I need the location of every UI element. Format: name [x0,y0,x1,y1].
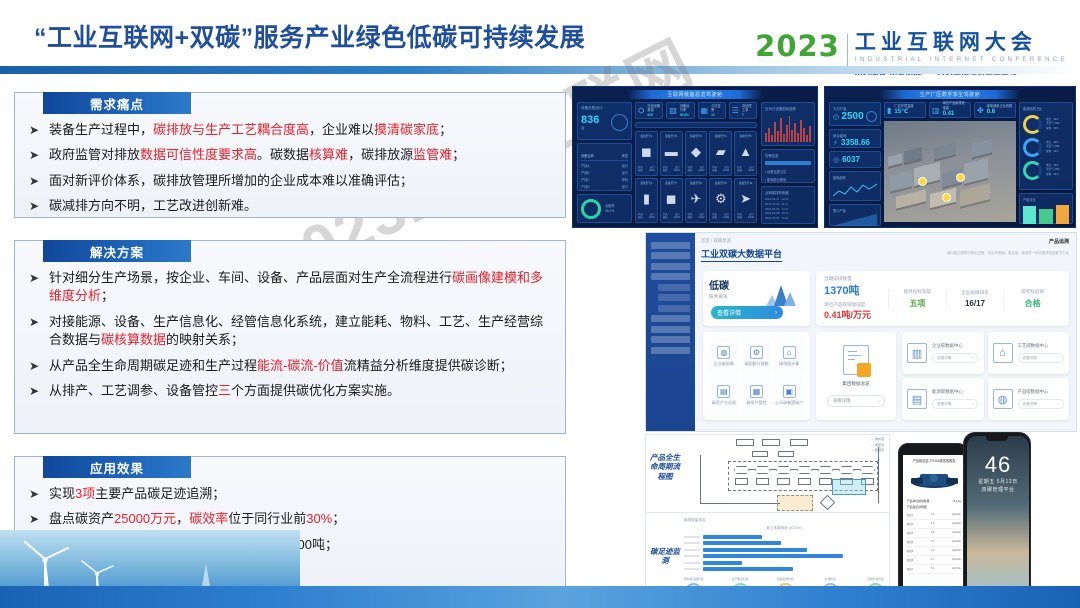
product-card[interactable]: 装备型号1◼状态运行能耗12kW [635,131,658,176]
phone-table-row: 阶段54.0kgCO2e [907,547,961,556]
plant-building [964,158,988,184]
screenshot-platform: 首页 / 双碳总览 工业双碳大数据平台 产品追溯 面向碳达峰碳中和全过程、全生命… [645,232,1077,432]
flow-connector [854,469,860,470]
platform-tile[interactable]: ▤碳资产与交易 [709,378,739,415]
flow-icon: ▦ [750,385,763,398]
platform-tile-label: 碳排产管控 [746,400,766,406]
phone-mockup-lock: 46 星期五 5月12日 双碳管理平台 [963,432,1031,604]
flow-node [819,478,832,485]
platform-tile-label: 碳排放计算 [779,361,799,367]
product-image-icon: ⚙ [715,185,727,213]
phone-table-row: 阶段21.9kgCO2e [907,520,961,529]
cell: 阶段3 [907,531,913,535]
cell: 3.3 [931,540,934,544]
platform-tile-label: 企业碳画像 [714,361,734,367]
platform-tile-label: 公众碳普惠账户 [775,400,803,406]
bullet-text: 盘点碳资产25000万元，碳效率位于同行业前30%； [49,510,551,528]
footprint-bar-row [684,554,884,558]
platform-brand: 工业双碳大数据平台 [701,247,782,262]
platform-header: 首页 / 双碳总览 工业双碳大数据平台 产品追溯 面向碳达峰碳中和全过程、全生命… [701,238,1069,262]
bar [703,548,807,552]
kpi-unit: 台 [581,126,599,131]
bar-axis-label [684,568,700,570]
screenshot-dashboard-products: 互联网装备总览驾驶舱 设备总数统计 836 台 设备名称状态 产线A运行 [572,86,818,228]
bar [780,118,782,142]
bar [794,123,796,142]
plant-building [904,147,922,163]
platform-tile-label: 碳配额与限额 [744,361,768,367]
dashboard-plant-title: 生产厂区数字孪生驾驶舱 [880,90,1020,99]
bullet-item: ➤实现3项主要产品碳足迹追溯； [29,485,551,503]
kpi-label: 厂区环境温度 [894,104,913,108]
mini-col: 状态 [622,153,628,158]
bar [777,131,779,142]
flow-connector [833,469,839,470]
co2-icon: ◎ [833,156,839,164]
bullet-text: 面对新评价体系，碳排放管理所增加的企业成本难以准确评估； [49,172,551,190]
platform-tile[interactable]: ▦碳排产管控 [742,378,772,415]
score-detail-button[interactable]: 查看详情› [711,306,783,319]
dashboard-products-title: 互联网装备总览驾驶舱 [627,90,764,99]
footprint-bar-row [684,541,884,545]
donut-legend: 电力 46%天然气 28%绿电 26% [1046,164,1060,177]
phone-table-row: 阶段32.6kgCO2e [907,529,961,538]
panel-title: 近期碳排放明细 [765,190,811,195]
panel-title: 告警信息 [765,153,811,158]
flow-process-node [839,466,854,474]
flow-connector [749,469,755,470]
phone-table-row: 阶段11.2kgCO2e [907,511,961,520]
cell: 阶段2 [907,522,913,526]
bullet-text: 对接能源、设备、生产信息化、经管信息化系统，建立能耗、物料、工艺、生产经营综合数… [49,313,551,350]
product-card-meta: 状态运行能耗12kW [688,213,705,220]
panel-title: 能源结构占比 [1023,106,1069,111]
bullet-item: ➤从排产、工艺调参、设备管控三个方面提供碳优化方案实施。 [29,382,551,400]
plant-building [972,139,992,158]
plant-building [934,142,956,159]
kpi-number: 92.6% [680,113,689,117]
donut-chart-icon [1023,161,1042,180]
chart-icon: ▨ [669,106,677,115]
footer-band [0,586,1080,608]
stage-label: 原材料获取阶段 [684,577,704,581]
lock-subtitle: 双碳管理平台 [967,486,1029,493]
cell: kgCO2e [952,531,961,535]
data-center-icon: ▥ [907,343,927,363]
conference-name-cn: 工业互联网大会 [855,32,1068,53]
gauge-ring-icon [611,114,628,131]
product-image-icon: ✈ [691,185,702,213]
product-image-icon: ▰ [716,138,726,166]
center-tile-card: 集团数据总览 查看详情› [816,332,896,420]
factory-icon: ⛭ [638,106,644,116]
bar [703,561,742,565]
chart-title: 碳排放量排名 [684,518,884,523]
metric-value: 2500 [841,111,863,122]
conference-name-en: INDUSTRIAL INTERNET CONFERENCE [855,56,1068,63]
flow-highlight-region [832,479,866,495]
plant-building [960,183,990,206]
product-image-icon: ➤ [740,185,751,213]
bar [771,135,773,142]
cell: 阶段7 [907,567,913,571]
product-card-meta: 状态运行能耗12kW [737,213,754,220]
bullet-text: 针对细分生产场景，按企业、车间、设备、产品层面对生产全流程进行碳画像建模和多维度… [49,269,551,306]
card-pain-points: 需求痛点 ➤装备生产过程中，碳排放与生产工艺耦合度高，企业难以摸清碳家底；➤政府… [14,92,566,218]
cell: 2.6 [931,531,934,535]
data-center-icon: ◍ [993,389,1013,409]
product-image [903,463,965,497]
kpi-value: 836 [581,114,599,126]
sidebar-menu-item[interactable] [651,263,690,270]
bullet-item: ➤政府监管对排放数据可信性度要求高。碳数据核算难，碳排放源监管难； [29,146,551,164]
footprint-bar-row [684,561,884,565]
product-image-icon: ▮ [643,185,650,213]
bullet-text: 从排产、工艺调参、设备管控三个方面提供碳优化方案实施。 [49,382,551,400]
bullet-item: ➤碳减排方向不明，工艺改进创新难。 [29,197,551,215]
center-tile-label: 集团数据总览 [842,381,870,387]
cell: kgCO2e [952,567,961,571]
score-card: 低碳 技术资讯 查看详情› [703,271,810,326]
bar [791,130,793,142]
platform-data-center-tile[interactable]: ◍产品碳数据中心查看详情› [988,378,1070,420]
stage-label: 使用阶段 [822,577,839,581]
donut-chart-icon [1023,138,1042,157]
bar-icon: ▥ [932,106,940,115]
flow-node [762,439,780,446]
donut-chart-icon [1023,115,1042,134]
kpi-number: 0.6 [987,109,995,115]
platform-tile[interactable]: ◍企业碳画像 [709,338,739,375]
screenshot-dashboard-plant: 生产厂区数字孪生驾驶舱 今日产量 ◴ 2500 综合能耗 ⚡ 3358.66 [824,86,1076,228]
flow-legend: — 物料流— 能量流— 数据流 [871,437,884,454]
chart-title: 近30日设备能耗趋势 [765,106,811,111]
wind-icon: ✤ [977,106,984,115]
bar [806,135,808,142]
kpi-number: 628 [647,113,652,117]
flow-process-node [776,466,791,474]
kpi-number: 13 [711,113,715,117]
area-chart [833,213,877,226]
flow-node [790,439,808,446]
stat-caption: 企业规模排名 [947,290,1004,296]
stat-value: 0.41吨/万元 [824,308,888,321]
product-card[interactable]: 装备型号2▬状态运行能耗12kW [660,131,683,176]
cell: 5.4 [931,567,934,571]
energy-icon: ⚡ [833,139,838,147]
stage-label: 回收处置阶段 [867,577,884,581]
flow-node [752,451,768,457]
product-card-meta: 状态运行能耗12kW [638,213,655,220]
sidebar-menu-item[interactable] [658,305,690,312]
data-center-icon: ▤ [907,389,927,409]
tile-label: 能源碳数据中心 [932,389,978,395]
donut-panel: 能源结构占比 电力 46%天然气 28%绿电 26%电力 46%天然气 28%绿… [1019,102,1073,190]
product-card[interactable]: 装备型号8✈状态运行能耗12kW [685,178,708,223]
center-tile-button[interactable]: 查看详情› [827,395,885,407]
flow-process-node [797,466,812,474]
line-chart [833,180,877,200]
bullet-item: ➤针对细分生产场景，按企业、车间、设备、产品层面对生产全流程进行碳画像建模和多维… [29,269,551,306]
cell: 1.2 [931,513,934,517]
kpi-number: 7 [742,113,744,117]
bar-panel: 产能对比 [1019,193,1073,224]
sidebar-menu-item[interactable] [651,315,690,322]
flow-node [798,478,811,485]
bullet-arrow-icon: ➤ [29,197,49,215]
flow-process-node [734,466,749,474]
donut-legend: 电力 46%天然气 28%绿电 26% [1046,118,1060,131]
gear-icon: ⚙ [750,346,763,359]
bullet-arrow-icon: ➤ [29,485,49,503]
cell: 4.7 [931,558,934,562]
phone-table-row: 阶段64.7kgCO2e [907,556,961,565]
bar [797,133,799,142]
cell: 阶段5 [907,549,913,553]
bar [703,541,781,545]
cell: 1.9 [931,522,934,526]
bullet-arrow-icon: ➤ [29,313,49,331]
kpi-number: 0.41 [943,111,955,117]
flow-highlight-region [777,495,813,511]
phone-app-screen[interactable]: 产品碳足迹 ZTH2A碳排放报告 产品单位碳排放量 8.6 kg 产品碳足迹明细… [903,455,965,591]
sidebar-menu-item[interactable] [651,252,690,259]
product-card[interactable]: 装备型号7◼状态运行能耗12kW [660,178,683,223]
donut-row: 电力 46%天然气 28%绿电 26% [1023,115,1069,134]
tile-action-button[interactable]: 查看详情› [1018,399,1064,409]
sidebar-menu-item[interactable] [658,284,690,291]
title-divider-band [0,66,1080,74]
bar [703,535,762,539]
tile-label: 工艺碳数据中心 [1018,343,1064,349]
footprint-bar-row [684,567,884,571]
flow-legend-item: — 物料流 [871,437,884,443]
tile-action-button[interactable]: 查看详情› [1018,353,1064,363]
product-card[interactable]: 装备型号10➤状态运行能耗12kW [734,178,757,223]
tile-action-button[interactable]: 查看详情› [932,353,978,363]
product-card-meta: 状态运行能耗12kW [663,213,680,220]
product-card-meta: 状态运行能耗12kW [737,166,754,173]
sidebar-menu-item[interactable] [651,326,690,333]
notch [986,436,1008,441]
kpi-label: 绿电使用占比系数 [987,104,1013,108]
product-image-icon: ◼ [641,138,652,166]
search-bar[interactable] [635,122,757,128]
stat-caption: 能耗指标等级 [889,289,946,295]
stat-value: 五项 [889,298,946,309]
cell: kgCO2e [952,540,961,544]
table-title [581,147,628,151]
bullet-arrow-icon: ➤ [29,172,49,190]
bar [768,128,770,142]
donut-legend: 电力 46%天然气 28%绿电 26% [1046,141,1060,154]
score-chart-icon [760,279,802,307]
bullet-text: 实现3项主要产品碳足迹追溯； [49,485,551,503]
phone-row-label: 产品碳足迹明细 [903,505,965,509]
flow-legend-item: — 数据流 [871,448,884,454]
kpi-label: 单位产品碳排放强度 [943,101,965,109]
donut-row: 电力 46%天然气 28%绿电 26% [1023,161,1069,180]
kpi-label: 在线设备数量 [647,104,660,112]
phone-table-row: 阶段75.4kgCO2e [907,565,961,574]
flow-node [778,451,794,457]
map-marker-icon[interactable] [918,177,927,186]
card-solution: 解决方案 ➤针对细分生产场景，按企业、车间、设备、产品层面对生产全流程进行碳画像… [14,240,566,434]
donut-chart-icon [581,199,601,219]
product-card-meta: 状态运行能耗12kW [663,166,680,173]
lock-time: 46 [967,452,1029,478]
platform-data-center-tile[interactable]: ⌂工艺碳数据中心查看详情› [988,332,1070,374]
bar-axis-label [684,536,700,538]
bullet-text: 从产品全生命周期碳足迹和生产过程能流-碳流-价值流精益分析维度提供碳诊断； [49,357,551,375]
product-card[interactable]: 装备型号9⚙状态运行能耗12kW [709,178,732,223]
stat-caption: 碳考核结果 [1004,289,1061,295]
plant-3d-scene[interactable] [884,121,1016,222]
list-icon: ☰ [732,106,739,115]
stat-value: 16/17 [947,299,1004,308]
platform-tag: 产品追溯 [947,238,1069,245]
map-marker-icon[interactable] [956,173,965,182]
slide-header: “工业互联网+双碳”服务产业绿色低碳可持续发展 2023 中国·青岛 5月11日… [0,0,1080,66]
product-card-meta: 状态运行能耗12kW [688,166,705,173]
bar [765,133,767,142]
bar-axis-label [684,555,700,557]
bar-axis-label [684,542,700,544]
donut-row: 电力 46%天然气 28%绿电 26% [1023,138,1069,157]
kpi-caption: 设备总数统计 [581,106,628,111]
ring-icon [866,111,877,122]
panel-title: 产能对比 [1023,197,1069,202]
bullet-item: ➤面对新评价体系，碳排放管理所增加的企业成本难以准确评估； [29,172,551,190]
bullet-item: ➤装备生产过程中，碳排放与生产工艺耦合度高，企业难以摸清碳家底； [29,121,551,139]
cell: 阶段6 [907,558,913,562]
flow-connector [700,503,780,504]
flow-connector [770,469,776,470]
sidebar-menu-item[interactable] [651,242,690,249]
document-icon [843,345,869,375]
bullet-arrow-icon: ➤ [29,357,49,375]
stage-label: 运输配送阶段 [777,577,794,581]
cell: 阶段1 [907,513,913,517]
platform-tile[interactable]: ⌂碳排放计算 [774,338,804,375]
flow-node [756,478,769,485]
mini-col: 设备名称 [581,153,594,158]
globe-icon: ◍ [717,346,730,359]
tile-action-button[interactable]: 查看详情› [932,399,978,409]
conference-year: 2023 [755,32,840,61]
card-pain-heading: 需求痛点 [43,92,191,114]
map-marker-icon[interactable] [942,193,951,202]
kpi-label: 设备运行率 [680,104,690,112]
chart-icon: ⌂ [783,346,796,359]
cell: kgCO2e [952,549,961,553]
product-card-meta: 状态运行能耗12kW [638,166,655,173]
metric-value: 3358.66 [841,138,870,147]
flow-connector [791,469,797,470]
product-image-icon: ▲ [739,138,752,166]
platform-tile[interactable]: ⚙碳配额与限额 [742,338,772,375]
product-card-meta: 状态运行能耗12kW [712,213,729,220]
bullet-text: 装备生产过程中，碳排放与生产工艺耦合度高，企业难以摸清碳家底； [49,121,551,139]
bullet-text: 碳减排方向不明，工艺改进创新难。 [49,197,551,215]
plant-building [888,153,902,166]
platform-tile[interactable]: ▣公众碳普惠账户 [774,378,804,415]
flow-node [735,478,748,485]
phone-lock-screen[interactable]: 46 星期五 5月12日 双碳管理平台 [967,436,1029,602]
tile-label: 产品碳数据中心 [1018,389,1064,395]
product-card[interactable]: 装备型号5▲状态运行能耗12kW [734,131,757,176]
flow-node [736,439,754,446]
phone-table-row: 阶段43.3kgCO2e [907,538,961,547]
product-card[interactable]: 装备型号6▮状态运行能耗12kW [635,178,658,223]
kpi-number: 15℃ [894,109,908,115]
plant-building [896,189,926,208]
bullet-arrow-icon: ➤ [29,269,49,287]
bullet-item: ➤盘点碳资产25000万元，碳效率位于同行业前30%； [29,510,551,528]
product-card[interactable]: 装备型号3◆状态运行能耗12kW [685,131,708,176]
product-card[interactable]: 装备型号4▰状态运行能耗12kW [709,131,732,176]
platform-data-center-tile[interactable]: ▤能源碳数据中心查看详情› [902,378,984,420]
cell: kgCO2e [952,513,961,517]
platform-sidebar[interactable] [646,233,695,432]
platform-tile-label: 碳资产与交易 [712,400,736,406]
gauge-icon: ◴ [833,113,839,121]
product-card-meta: 状态运行能耗12kW [712,166,729,173]
bar [803,128,805,142]
bullet-item: ➤从产品全生命周期碳足迹和生产过程能流-碳流-价值流精益分析维度提供碳诊断； [29,357,551,375]
bar [786,125,788,142]
cell: kgCO2e [952,522,961,526]
flow-connector [700,455,701,503]
stat-value: 合格 [1004,298,1061,309]
data-center-icon: ⌂ [993,343,1013,363]
bullet-arrow-icon: ➤ [29,146,49,164]
page-title: “工业互联网+双碳”服务产业绿色低碳可持续发展 [34,18,585,54]
sidebar-menu-item[interactable] [651,273,690,280]
platform-data-center-tile[interactable]: ▥企业碳数据中心查看详情› [902,332,984,374]
product-image-icon: ◼ [666,185,677,213]
lock-date: 星期五 5月12日 [967,478,1029,485]
flow-decision-node [820,495,836,511]
bar-axis-label [684,549,700,551]
bullet-item: ➤对接能源、设备、生产信息化、经管信息化系统，建立能耗、物料、工艺、生产经营综合… [29,313,551,350]
stat-value: 1370吨 [824,282,888,298]
flow-connector [812,469,818,470]
flow-process-node [755,466,770,474]
bullet-arrow-icon: ➤ [29,121,49,139]
phone-mockup-app: 产品碳足迹 ZTH2A碳排放报告 产品单位碳排放量 8.6 kg 产品碳足迹明细… [898,443,968,603]
chart-subtitle: 各工序碳排放 (tCO2e) [684,526,884,531]
sidebar-menu-item[interactable] [651,336,690,343]
bar [783,134,785,142]
bar [809,126,811,142]
tile-label: 企业碳数据中心 [932,343,978,349]
breadcrumb[interactable]: 首页 / 双碳总览 [701,238,782,244]
cell: 阶段4 [907,540,913,544]
bullet-arrow-icon: ➤ [29,382,49,400]
card-solution-body: ➤针对细分生产场景，按企业、车间、设备、产品层面对生产全流程进行碳画像建模和多维… [15,241,565,418]
bullet-arrow-icon: ➤ [29,510,49,528]
bullet-text: 政府监管对排放数据可信性度要求高。碳数据核算难，碳排放源监管难； [49,146,551,164]
stage-label: 生产制造阶段 [732,577,749,581]
calendar-icon: ▦ [701,106,709,115]
cell: kgCO2e [952,558,961,562]
sidebar-menu-item[interactable] [658,294,690,301]
sidebar-menu-item[interactable] [651,347,690,354]
bar [703,567,793,571]
plant-building [890,170,912,191]
file-icon: ▣ [783,385,796,398]
